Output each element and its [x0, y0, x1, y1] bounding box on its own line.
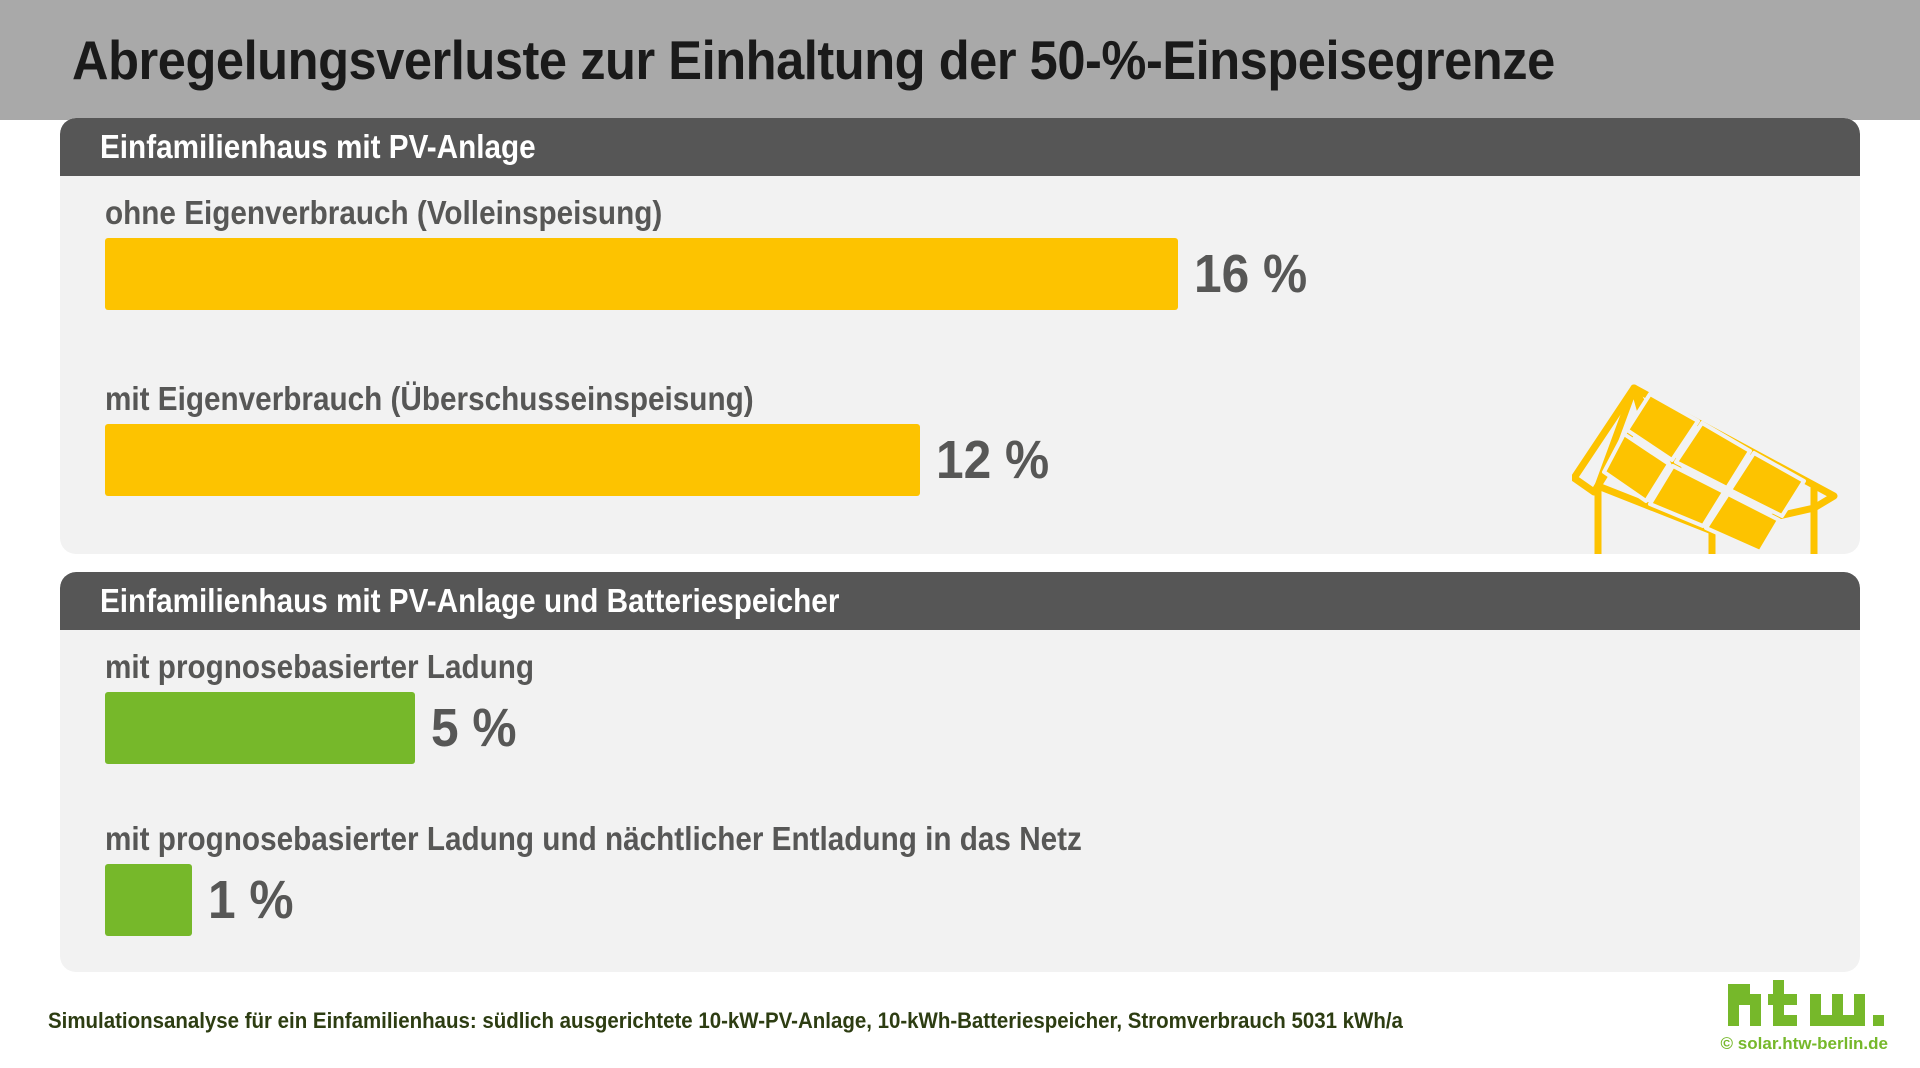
- footnote: Simulationsanalyse für ein Einfamilienha…: [48, 1008, 1403, 1034]
- bar-value-label: 16 %: [1194, 243, 1307, 305]
- bar-row: 16 %: [105, 238, 1317, 310]
- bar-fill: [105, 424, 920, 496]
- panel-pv-battery-header-label: Einfamilienhaus mit PV-Anlage und Batter…: [100, 582, 839, 620]
- bar-fill: [105, 692, 415, 764]
- bar-fill: [105, 864, 192, 936]
- htw-logo-block: © solar.htw-berlin.de: [1708, 980, 1888, 1054]
- panel-pv-battery: Einfamilienhaus mit PV-Anlage und Batter…: [60, 572, 1860, 972]
- panel-pv-header: Einfamilienhaus mit PV-Anlage: [60, 118, 1860, 176]
- bar-label: mit prognosebasierter Ladung und nächtli…: [105, 820, 1082, 858]
- bar-value-label: 5 %: [431, 697, 517, 759]
- bar-label: mit Eigenverbrauch (Überschusseinspeisun…: [105, 380, 754, 418]
- bar-label: ohne Eigenverbrauch (Volleinspeisung): [105, 194, 662, 232]
- bar-row: 12 %: [105, 424, 1059, 496]
- panel-pv-header-label: Einfamilienhaus mit PV-Anlage: [100, 128, 536, 166]
- bar-row: 5 %: [105, 692, 524, 764]
- panel-pv: Einfamilienhaus mit PV-Anlage ohne Eigen…: [60, 118, 1860, 554]
- logo-url: © solar.htw-berlin.de: [1708, 1034, 1888, 1054]
- page-title: Abregelungsverluste zur Einhaltung der 5…: [72, 28, 1555, 92]
- title-band: Abregelungsverluste zur Einhaltung der 5…: [0, 0, 1920, 120]
- bar-value-label: 1 %: [208, 869, 294, 931]
- htw-logo-icon: [1728, 980, 1888, 1030]
- bar-row: 1 %: [105, 864, 301, 936]
- house-with-pv-icon: [1572, 368, 1860, 554]
- bar-value-label: 12 %: [936, 429, 1049, 491]
- bar-label: mit prognosebasierter Ladung: [105, 648, 534, 686]
- panel-pv-battery-header: Einfamilienhaus mit PV-Anlage und Batter…: [60, 572, 1860, 630]
- bar-fill: [105, 238, 1178, 310]
- infographic-root: Abregelungsverluste zur Einhaltung der 5…: [0, 0, 1920, 1068]
